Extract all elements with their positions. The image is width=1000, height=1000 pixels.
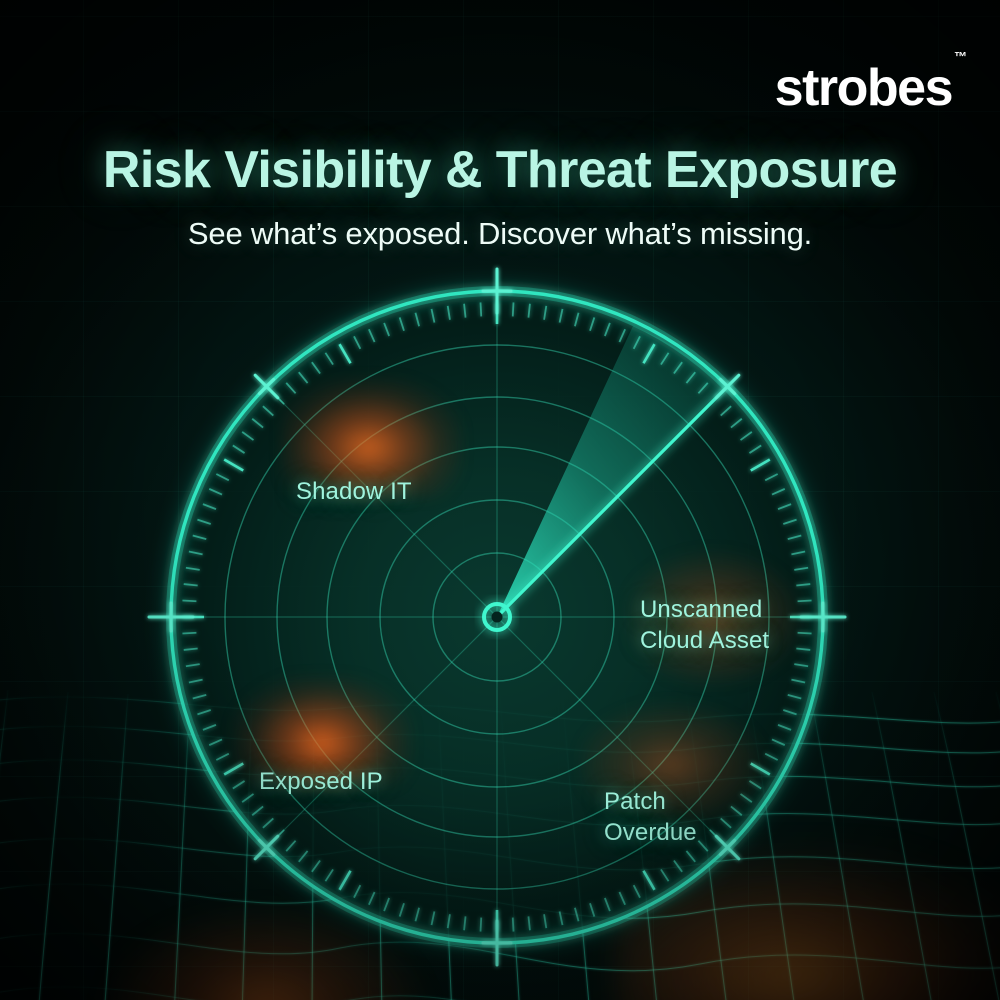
radar-label-exposed-ip: Exposed IP xyxy=(259,766,383,797)
brand-logo: strobes ™ xyxy=(775,62,952,114)
page-subtitle: See what’s exposed. Discover what’s miss… xyxy=(0,216,1000,252)
trademark-icon: ™ xyxy=(954,50,967,63)
radar-label-unscanned-cloud-asset: Unscanned Cloud Asset xyxy=(640,594,769,656)
brand-logo-text: strobes xyxy=(775,59,952,117)
radar-hub-core xyxy=(492,612,503,623)
poster-canvas: Shadow IT Exposed IP Unscanned Cloud Ass… xyxy=(0,0,1000,1000)
page-title: Risk Visibility & Threat Exposure xyxy=(0,140,1000,200)
radar-label-patch-overdue: Patch Overdue xyxy=(604,786,697,848)
radar-label-shadow-it: Shadow IT xyxy=(296,476,412,507)
